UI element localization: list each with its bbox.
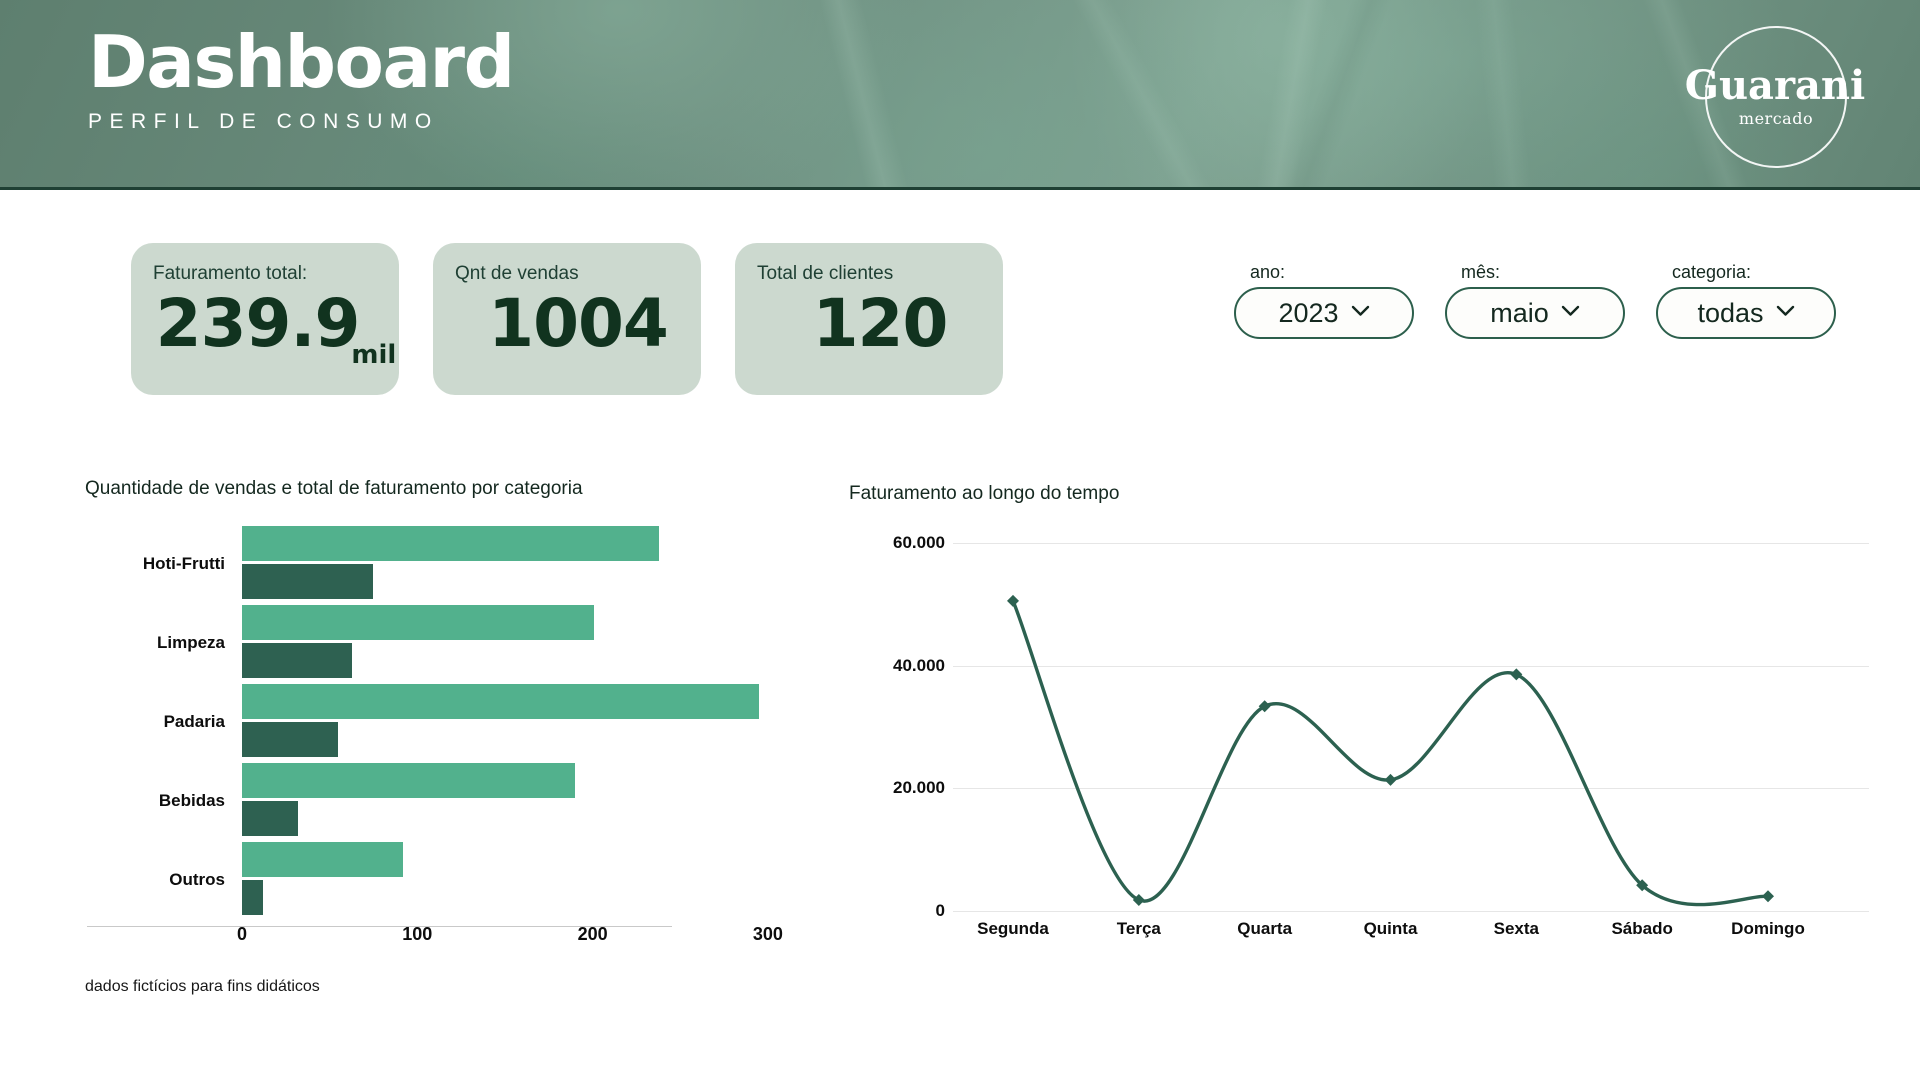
brand-logo-name: Guarani <box>1685 66 1865 106</box>
bar-group <box>242 684 805 762</box>
chevron-down-icon <box>1561 304 1580 322</box>
brand-logo-tagline: mercado <box>1739 109 1813 128</box>
bar-chart-panel: Quantidade de vendas e total de faturame… <box>85 478 805 934</box>
bar-chart-x-axis: 0100200300 <box>242 924 805 954</box>
filter-value-ano: 2023 <box>1278 298 1338 329</box>
filter-label-mes: mês: <box>1461 262 1625 283</box>
bar-faturamento <box>242 643 352 678</box>
bar-chart-x-tick: 200 <box>578 924 608 945</box>
bar-quantidade-vendas <box>242 605 594 640</box>
bar-chart-x-tick: 100 <box>402 924 432 945</box>
kpi-card-qnt-de-vendas: Qnt de vendas 1004 <box>433 243 701 395</box>
line-chart-x-tick: Sexta <box>1494 919 1539 939</box>
line-chart-x-tick: Quarta <box>1237 919 1292 939</box>
line-chart-y-axis: 020.00040.00060.000 <box>849 531 945 911</box>
bar-chart-category-label: Bebidas <box>159 791 225 811</box>
bar-chart-area: Hoti-FruttiLimpezaPadariaBebidasOutros 0… <box>85 526 805 934</box>
line-chart-svg <box>953 531 1828 911</box>
line-chart-title: Faturamento ao longo do tempo <box>849 483 1869 505</box>
filter-label-categoria: categoria: <box>1672 262 1836 283</box>
bar-faturamento <box>242 801 298 836</box>
kpi-value: 120 <box>813 283 948 366</box>
line-chart-gridline <box>953 911 1869 912</box>
filter-ano: ano: 2023 <box>1234 262 1414 339</box>
kpi-value-wrap: 239.9 mil <box>153 283 399 366</box>
line-chart-x-tick: Terça <box>1117 919 1161 939</box>
line-chart-x-tick: Quinta <box>1364 919 1418 939</box>
bar-chart-category-label: Limpeza <box>157 633 225 653</box>
bar-quantidade-vendas <box>242 684 759 719</box>
bar-group <box>242 526 805 604</box>
kpi-value-wrap: 1004 <box>455 283 701 366</box>
line-chart-y-tick: 40.000 <box>893 656 945 676</box>
bar-chart-x-tick: 0 <box>237 924 247 945</box>
filter-label-ano: ano: <box>1250 262 1414 283</box>
kpi-value-wrap: 120 <box>757 283 1003 366</box>
bar-faturamento <box>242 722 338 757</box>
bar-chart-category-label: Outros <box>169 870 225 890</box>
chevron-down-icon <box>1776 304 1795 322</box>
bar-group <box>242 842 805 920</box>
kpi-card-row: Faturamento total: 239.9 mil Qnt de vend… <box>131 243 1003 395</box>
filter-bar: ano: 2023 mês: maio categoria: todas <box>1234 262 1836 339</box>
bar-group <box>242 605 805 683</box>
filter-value-categoria: todas <box>1697 298 1763 329</box>
kpi-label: Total de clientes <box>757 263 1003 285</box>
filter-categoria: categoria: todas <box>1656 262 1836 339</box>
page-subtitle: PERFIL DE CONSUMO <box>88 110 514 134</box>
line-chart-y-tick: 20.000 <box>893 778 945 798</box>
kpi-card-faturamento-total: Faturamento total: 239.9 mil <box>131 243 399 395</box>
panel-divider <box>87 926 672 927</box>
bar-quantidade-vendas <box>242 763 575 798</box>
kpi-value: 239.9 <box>156 283 360 366</box>
filter-value-mes: maio <box>1490 298 1549 329</box>
brand-logo: Guarani mercado <box>1705 26 1847 168</box>
page-header: Dashboard PERFIL DE CONSUMO Guarani merc… <box>0 0 1920 190</box>
line-chart-x-tick: Sábado <box>1611 919 1672 939</box>
kpi-label: Faturamento total: <box>153 263 399 285</box>
line-chart-panel: Faturamento ao longo do tempo 020.00040.… <box>849 483 1869 931</box>
filter-mes: mês: maio <box>1445 262 1625 339</box>
kpi-value: 1004 <box>488 283 668 366</box>
bar-chart-category-label: Hoti-Frutti <box>143 554 225 574</box>
line-chart-plot: SegundaTerçaQuartaQuintaSextaSábadoDomin… <box>953 531 1869 911</box>
filter-dropdown-categoria[interactable]: todas <box>1656 287 1836 339</box>
line-chart-data-marker <box>1385 774 1397 786</box>
bar-chart-bars <box>242 526 805 921</box>
line-chart-x-tick: Domingo <box>1731 919 1805 939</box>
kpi-value-suffix: mil <box>351 340 396 370</box>
bar-group <box>242 763 805 841</box>
bar-faturamento <box>242 564 373 599</box>
bar-quantidade-vendas <box>242 526 659 561</box>
bar-faturamento <box>242 880 263 915</box>
line-chart-area: 020.00040.00060.000 SegundaTerçaQuartaQu… <box>849 531 1869 931</box>
filter-dropdown-ano[interactable]: 2023 <box>1234 287 1414 339</box>
line-chart-y-tick: 0 <box>936 901 945 921</box>
title-block: Dashboard PERFIL DE CONSUMO <box>88 26 514 134</box>
line-chart-x-tick: Segunda <box>977 919 1049 939</box>
line-chart-data-marker <box>1007 595 1019 607</box>
page-title: Dashboard <box>88 26 514 98</box>
bar-chart-title: Quantidade de vendas e total de faturame… <box>85 478 805 500</box>
bar-chart-category-label: Padaria <box>164 712 225 732</box>
chevron-down-icon <box>1351 304 1370 322</box>
kpi-label: Qnt de vendas <box>455 263 701 285</box>
kpi-card-total-de-clientes: Total de clientes 120 <box>735 243 1003 395</box>
line-chart-y-tick: 60.000 <box>893 533 945 553</box>
line-chart-series-path <box>1013 601 1768 905</box>
bar-quantidade-vendas <box>242 842 403 877</box>
filter-dropdown-mes[interactable]: maio <box>1445 287 1625 339</box>
footnote: dados fictícios para fins didáticos <box>85 978 320 996</box>
bar-chart-x-tick: 300 <box>753 924 783 945</box>
line-chart-data-marker <box>1762 890 1774 902</box>
